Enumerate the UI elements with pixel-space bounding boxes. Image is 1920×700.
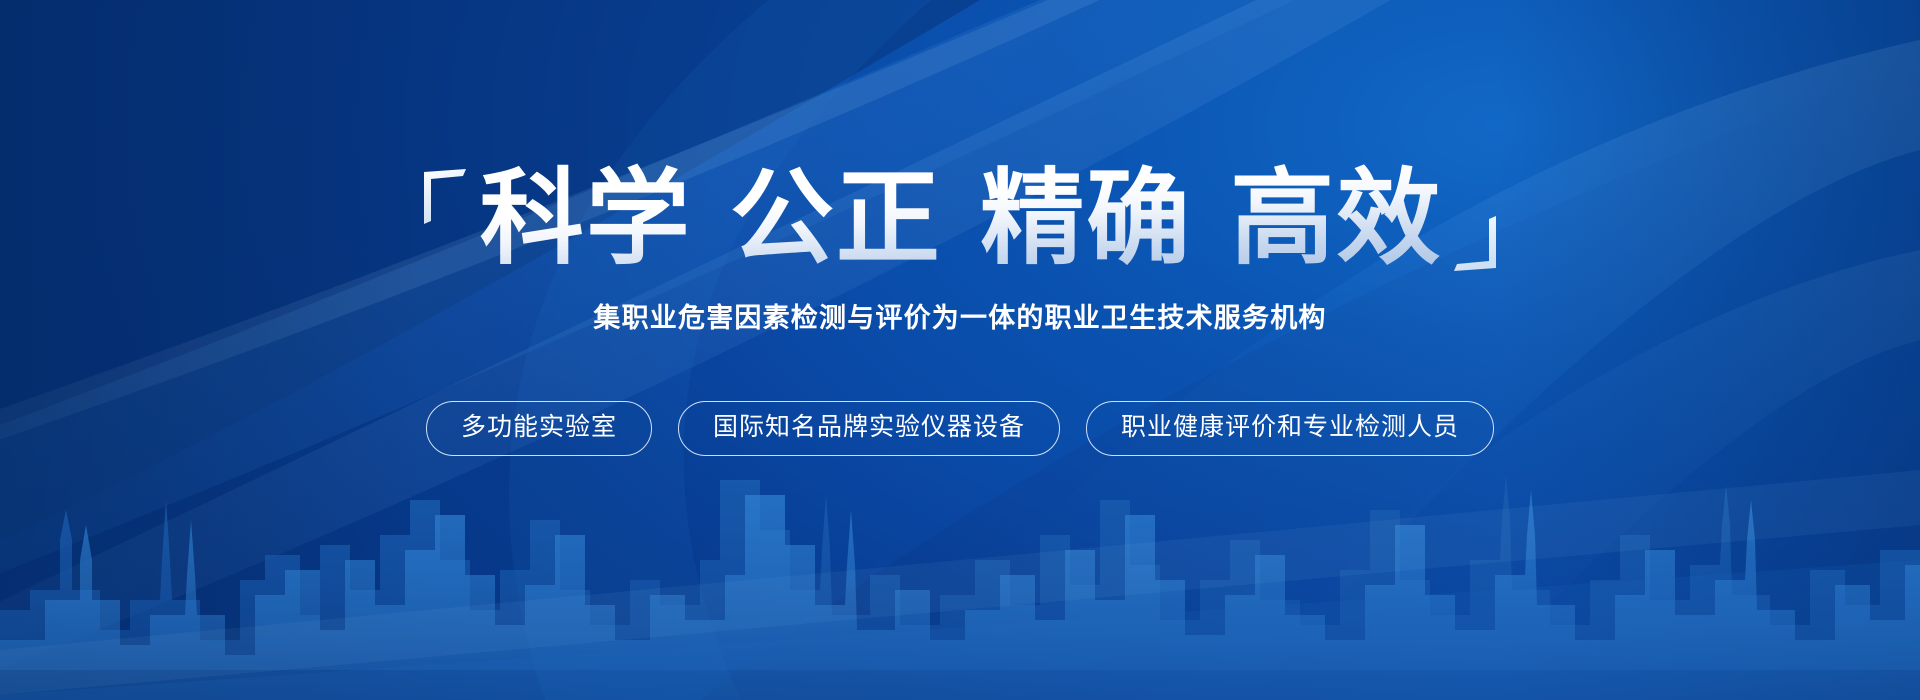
feature-pill-personnel[interactable]: 职业健康评价和专业检测人员 xyxy=(1086,401,1494,456)
hero-banner: 科学 公正 精确 高效 集职业危害因素检测与评价为一体的职业卫生技术服务机构 多… xyxy=(0,0,1920,700)
headline-row: 科学 公正 精确 高效 xyxy=(0,162,1920,274)
feature-pill-lab[interactable]: 多功能实验室 xyxy=(426,401,652,456)
feature-pill-row: 多功能实验室 国际知名品牌实验仪器设备 职业健康评价和专业检测人员 xyxy=(426,401,1494,456)
page-title: 科学 公正 精确 高效 xyxy=(476,162,1447,274)
banner-content: 科学 公正 精确 高效 集职业危害因素检测与评价为一体的职业卫生技术服务机构 多… xyxy=(0,0,1920,700)
feature-pill-equipment[interactable]: 国际知名品牌实验仪器设备 xyxy=(678,401,1060,456)
banner-subtitle: 集职业危害因素检测与评价为一体的职业卫生技术服务机构 xyxy=(593,296,1326,335)
quote-open-bracket-icon xyxy=(422,168,468,224)
quote-close-bracket-icon xyxy=(1452,216,1498,272)
